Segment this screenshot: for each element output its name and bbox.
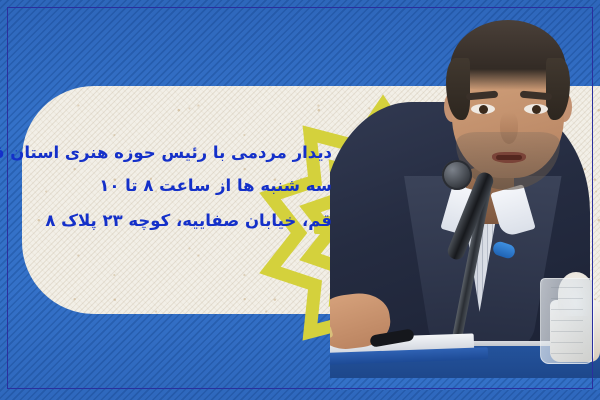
- microphone-head: [442, 160, 472, 190]
- glass-reflections: [551, 287, 583, 355]
- pupil-right: [532, 105, 541, 114]
- poster-text-block: دیدار مردمی با رئیس حوزه هنری استان قم س…: [44, 138, 332, 238]
- water-glass: [540, 278, 594, 364]
- poster-title: دیدار مردمی با رئیس حوزه هنری استان قم: [44, 138, 332, 168]
- speaker-photo: [330, 0, 600, 390]
- mouth-inner: [496, 155, 522, 160]
- eye-left: [471, 104, 495, 114]
- eye-right: [524, 104, 548, 114]
- bottom-blue-band: [330, 378, 600, 390]
- poster-canvas: دیدار مردمی با رئیس حوزه هنری استان قم س…: [0, 0, 600, 400]
- pupil-left: [479, 105, 488, 114]
- poster-time: سه شنبه ها از ساعت ۸ تا ۱۰: [44, 168, 332, 204]
- poster-address: قم، خیابان صفاییه، کوچه ۲۳ پلاک ۸: [44, 204, 332, 238]
